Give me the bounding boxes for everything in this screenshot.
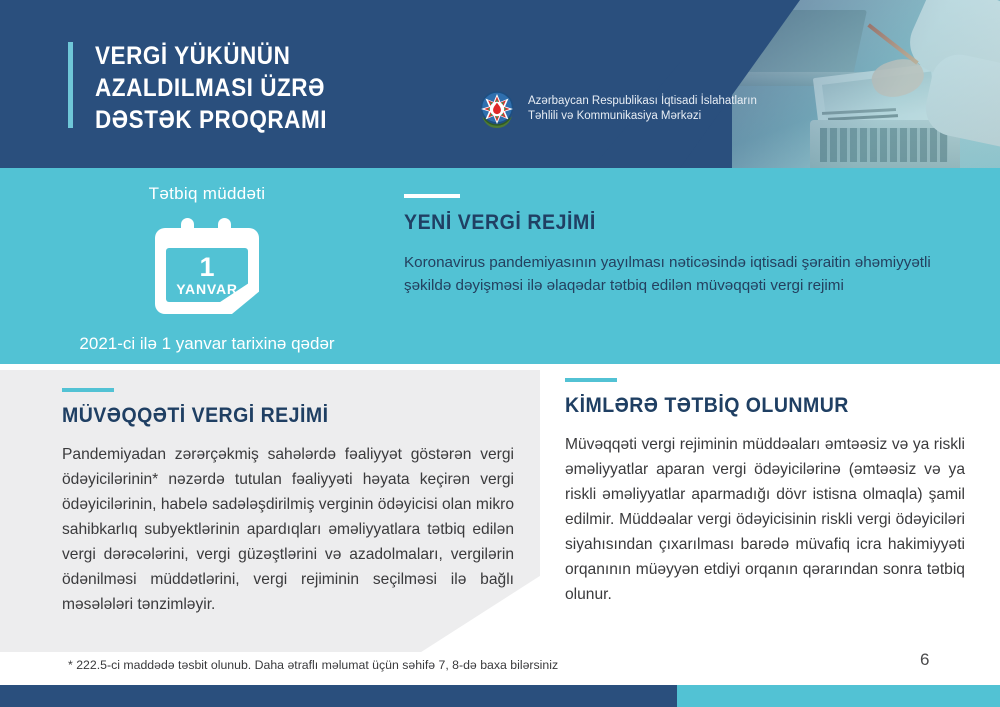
calendar-month-label: YANVAR (155, 281, 259, 297)
azerbaijan-state-emblem-icon (476, 88, 518, 130)
header-banner: VERGİ YÜKÜNÜN AZALDILMASI ÜZRƏ DƏSTƏK PR… (0, 0, 1000, 168)
exemptions-heading: KİMLƏRƏ TƏTBİQ OLUNMUR (565, 394, 946, 418)
page-title: VERGİ YÜKÜNÜN AZALDILMASI ÜZRƏ DƏSTƏK PR… (95, 40, 437, 136)
organization-name: Azərbaycan Respublikası İqtisadi İslahat… (528, 94, 757, 124)
application-period-label: Tətbiq müddəti (42, 184, 372, 204)
calendar-day-number: 1 (155, 254, 259, 281)
temporary-tax-regime-accent-bar (62, 388, 114, 392)
footnote: * 222.5-ci maddədə təsbit olunub. Daha ə… (68, 658, 558, 672)
page-title-line-3: DƏSTƏK PROQRAMI (95, 104, 437, 136)
page-title-line-1: VERGİ YÜKÜNÜN (95, 40, 437, 72)
application-period-block: Tətbiq müddəti 1 YANVAR 2021-ci ilə 1 ya… (42, 184, 372, 354)
new-tax-regime-accent-bar (404, 194, 460, 198)
new-tax-regime-heading: YENİ VERGİ REJİMİ (404, 211, 925, 235)
teal-section: Tətbiq müddəti 1 YANVAR 2021-ci ilə 1 ya… (0, 168, 1000, 364)
organization-branding: Azərbaycan Respublikası İqtisadi İslahat… (476, 88, 757, 130)
temporary-tax-regime-content: MÜVƏQQƏTİ VERGİ REJİMİ Pandemiyadan zərə… (62, 388, 514, 617)
organization-name-line-1: Azərbaycan Respublikası İqtisadi İslahat… (528, 94, 757, 109)
new-tax-regime-body: Koronavirus pandemiyasının yayılması nət… (404, 251, 934, 297)
application-period-caption: 2021-ci ilə 1 yanvar tarixinə qədər (42, 334, 372, 354)
title-accent-bar (68, 42, 73, 128)
organization-name-line-2: Təhlili və Kommunikasiya Mərkəzi (528, 109, 757, 124)
footer-bar-navy (0, 685, 677, 707)
new-tax-regime-block: YENİ VERGİ REJİMİ Koronavirus pandemiyas… (404, 194, 964, 297)
page-title-line-2: AZALDILMASI ÜZRƏ (95, 72, 437, 104)
exemptions-panel: KİMLƏRƏ TƏTBİQ OLUNMUR Müvəqqəti vergi r… (565, 378, 975, 607)
exemptions-accent-bar (565, 378, 617, 382)
exemptions-body: Müvəqqəti vergi rejiminin müddəaları əmt… (565, 432, 965, 607)
calendar-icon: 1 YANVAR (155, 218, 259, 314)
footer-bar-teal (677, 685, 1000, 707)
infographic-page: VERGİ YÜKÜNÜN AZALDILMASI ÜZRƏ DƏSTƏK PR… (0, 0, 1000, 707)
temporary-tax-regime-body: Pandemiyadan zərərçəkmiş sahələrdə fəali… (62, 442, 514, 617)
temporary-tax-regime-heading: MÜVƏQQƏTİ VERGİ REJİMİ (62, 404, 482, 428)
page-number: 6 (920, 650, 929, 670)
